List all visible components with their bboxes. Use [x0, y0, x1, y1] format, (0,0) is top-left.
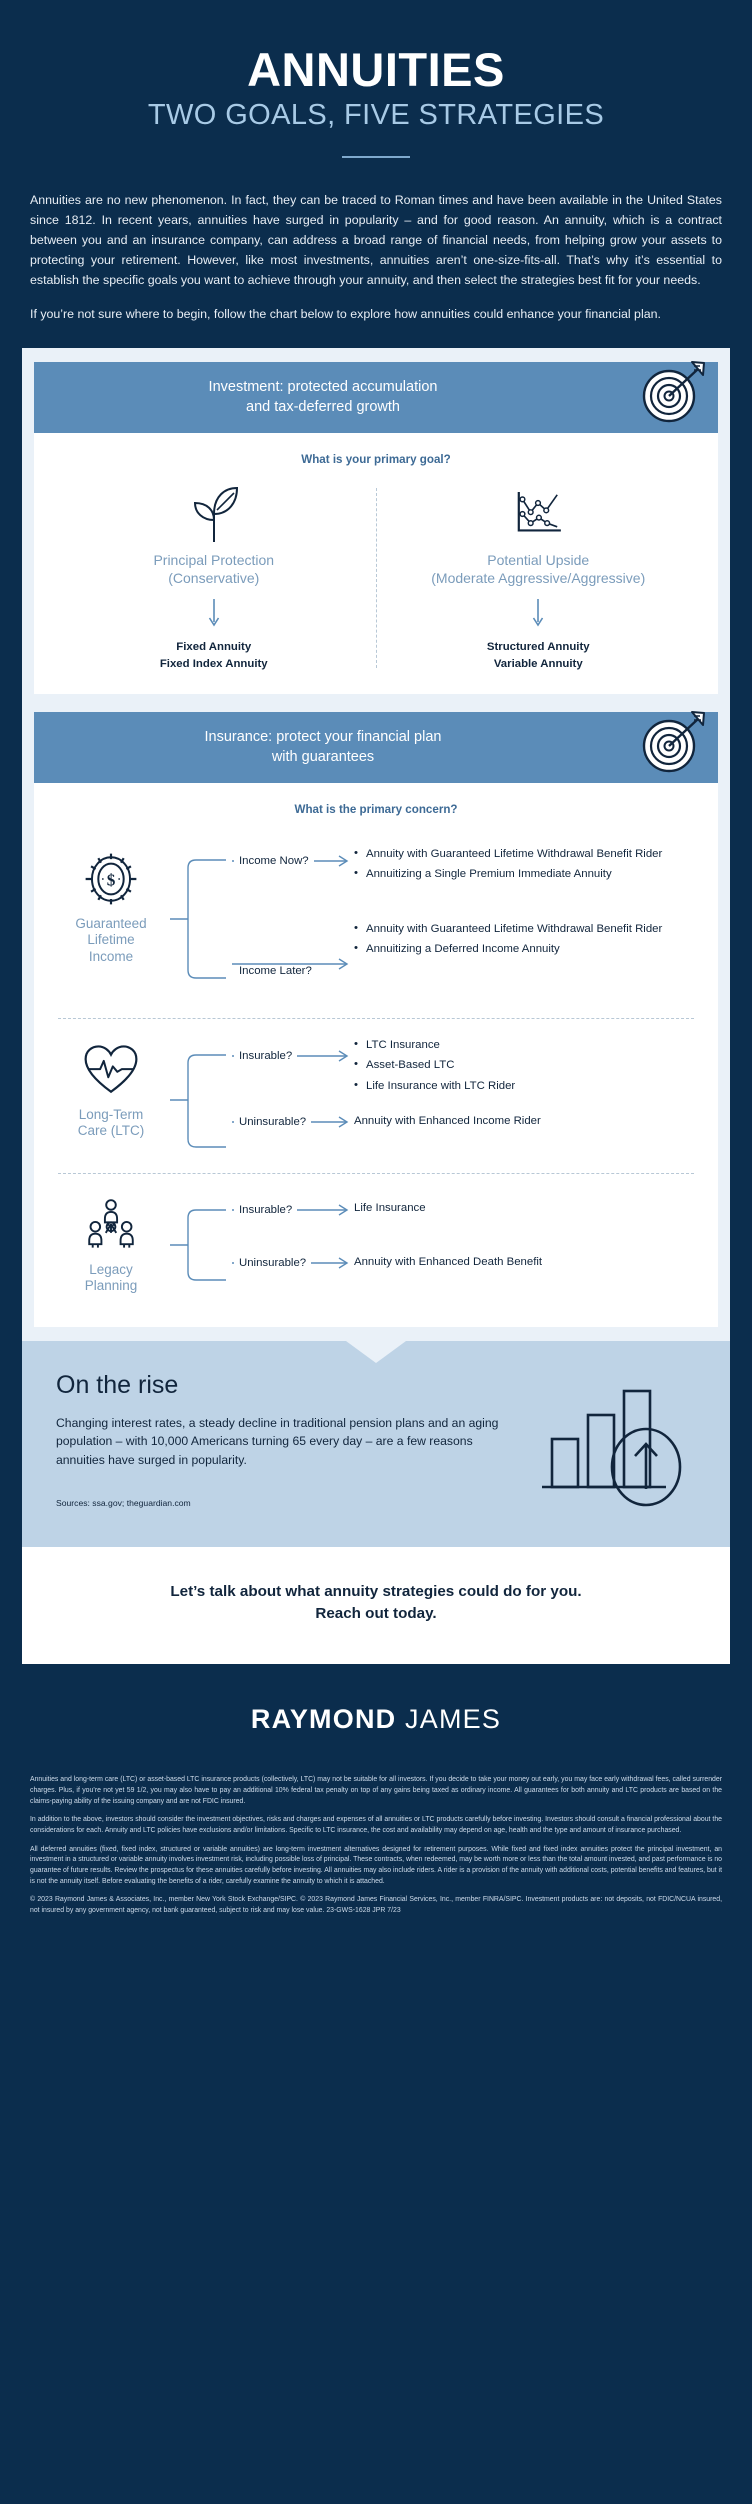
branch-row: Income Later? Annuity with Guaranteed Li…: [176, 919, 700, 994]
branch-label-block: Legacy Planning: [52, 1190, 170, 1294]
bar-chart-up-arrow-icon: [536, 1371, 696, 1517]
outcome-item: Annuitizing a Single Premium Immediate A…: [354, 866, 700, 882]
insurance-banner-line2: with guarantees: [272, 749, 374, 765]
branch-question-cell: Insurable?: [176, 1035, 354, 1077]
inv-title2-line2: (Moderate Aggressive/Aggressive): [431, 570, 645, 586]
branch-title-legacy-planning: Legacy Planning: [52, 1262, 170, 1294]
cta-line2: Reach out today.: [315, 1605, 436, 1622]
investment-panel: Investment: protected accumulation and t…: [34, 362, 718, 694]
arrow-down-icon: [208, 599, 220, 629]
investment-tree: Principal Protection (Conservative) Fixe…: [52, 484, 700, 672]
logo-bold: RAYMOND: [251, 1704, 396, 1734]
page-title: ANNUITIES: [30, 46, 722, 94]
branch3-line2: Planning: [85, 1278, 138, 1293]
inv-outcome-line1: Fixed Annuity: [176, 641, 251, 653]
disclaimer-paragraph-4: © 2023 Raymond James & Associates, Inc.,…: [30, 1895, 722, 1916]
insurance-banner-line1: Insurance: protect your financial plan: [205, 729, 442, 745]
branch3-line1: Legacy: [89, 1262, 133, 1277]
cta-text: Let’s talk about what annuity strategies…: [52, 1581, 700, 1627]
cta-section: Let’s talk about what annuity strategies…: [22, 1547, 730, 1665]
inv-title-line1: Principal Protection: [153, 552, 274, 568]
branch-question-cell: Uninsurable?: [176, 1246, 354, 1280]
insurance-banner-text: Insurance: protect your financial plan w…: [58, 728, 608, 767]
investment-branch-title-aggressive: Potential Upside (Moderate Aggressive/Ag…: [383, 552, 695, 587]
branch-outcomes: Annuity with Guaranteed Lifetime Withdra…: [354, 844, 700, 886]
branch-outcomes: Annuity with Enhanced Income Rider: [354, 1105, 700, 1129]
intro-paragraph-2: If you’re not sure where to begin, follo…: [30, 304, 722, 324]
branch-question-cell: Income Now?: [176, 844, 354, 878]
branch-outcomes: LTC Insurance Asset-Based LTC Life Insur…: [354, 1035, 700, 1098]
on-the-rise-heading: On the rise: [56, 1371, 520, 1400]
plant-leaf-icon: [58, 484, 370, 544]
investment-branch-title-conservative: Principal Protection (Conservative): [58, 552, 370, 587]
inv-outcome-line2: Fixed Index Annuity: [160, 658, 268, 670]
brand-logo: RAYMOND JAMES: [0, 1664, 752, 1769]
intro-paragraph-1: Annuities are no new phenomenon. In fact…: [30, 190, 722, 290]
branch-question-label: Income Later?: [234, 965, 317, 977]
branch-title-guaranteed-lifetime-income: Guaranteed Lifetime Income: [52, 916, 170, 965]
page-subtitle: TWO GOALS, FIVE STRATEGIES: [30, 100, 722, 132]
outcome-item: Annuitizing a Deferred Income Annuity: [354, 941, 700, 957]
branch-title-long-term-care: Long-Term Care (LTC): [52, 1107, 170, 1139]
branch-outcomes: Life Insurance: [354, 1190, 700, 1216]
branch1-line1: Guaranteed: [75, 916, 146, 931]
on-the-rise-text-block: On the rise Changing interest rates, a s…: [56, 1371, 536, 1509]
branch-row: Income Now? Annuity with Guaranteed Life…: [176, 844, 700, 919]
outcome-item: Annuity with Guaranteed Lifetime Withdra…: [354, 846, 700, 862]
logo-thin: JAMES: [405, 1704, 501, 1734]
insurance-branch-guaranteed-lifetime-income: $ Guaranteed Lifetime Income: [52, 834, 700, 1004]
svg-text:$: $: [107, 870, 116, 889]
outcome-item: Annuity with Guaranteed Lifetime Withdra…: [354, 921, 700, 937]
line-chart-icon: [383, 484, 695, 544]
outcome-item: Asset-Based LTC: [354, 1057, 700, 1073]
branch-question-cell: Insurable?: [176, 1190, 354, 1230]
inv-outcome2-line2: Variable Annuity: [494, 658, 583, 670]
notch-shape: [346, 1341, 406, 1363]
outcome-item: LTC Insurance: [354, 1037, 700, 1053]
chart-card: Investment: protected accumulation and t…: [22, 348, 730, 1340]
insurance-question: What is the primary concern?: [52, 803, 700, 816]
branch-question-cell: Uninsurable?: [176, 1105, 354, 1139]
branch1-line3: Income: [89, 949, 133, 964]
branch-question-label: Insurable?: [234, 1204, 297, 1216]
investment-branch-aggressive: Potential Upside (Moderate Aggressive/Ag…: [377, 484, 701, 672]
infographic-page: ANNUITIES TWO GOALS, FIVE STRATEGIES Ann…: [0, 0, 752, 2504]
insurance-branch-long-term-care: Long-Term Care (LTC): [52, 1025, 700, 1159]
branch-outcomes: Annuity with Enhanced Death Benefit: [354, 1246, 700, 1270]
family-group-icon: [52, 1194, 170, 1256]
branch-separator: [58, 1018, 694, 1019]
investment-question: What is your primary goal?: [52, 453, 700, 466]
branch-rows-legacy-planning: Insurable? Life Insurance: [170, 1190, 700, 1290]
investment-banner: Investment: protected accumulation and t…: [34, 362, 718, 433]
target-arrow-icon: [636, 704, 710, 778]
investment-banner-text: Investment: protected accumulation and t…: [58, 378, 608, 417]
on-the-rise-sources: Sources: ssa.gov; theguardian.com: [56, 1498, 520, 1508]
investment-outcome-conservative: Fixed Annuity Fixed Index Annuity: [58, 639, 370, 672]
investment-branch-conservative: Principal Protection (Conservative) Fixe…: [52, 484, 376, 672]
investment-banner-line2: and tax-deferred growth: [246, 399, 400, 415]
investment-outcome-aggressive: Structured Annuity Variable Annuity: [383, 639, 695, 672]
branch-outcomes: Annuity with Guaranteed Lifetime Withdra…: [354, 919, 700, 961]
gear-dollar-icon: $: [52, 848, 170, 910]
branch-question-label: Income Now?: [234, 855, 314, 867]
branch-row: Uninsurable? Annuity with Enhanced Incom…: [176, 1105, 700, 1149]
branch1-line2: Lifetime: [87, 932, 134, 947]
branch-row: Insurable? LTC Insurance Asset-Based LTC…: [176, 1035, 700, 1105]
branch-rows-long-term-care: Insurable? LTC Insurance Asset-Based LTC…: [170, 1035, 700, 1149]
branch-question-label: Uninsurable?: [234, 1257, 311, 1269]
branch-question-label: Insurable?: [234, 1050, 297, 1062]
branch-separator: [58, 1173, 694, 1174]
outcome-item: Life Insurance with LTC Rider: [354, 1078, 700, 1094]
branch-label-block: $ Guaranteed Lifetime Income: [52, 844, 170, 965]
investment-body: What is your primary goal? P: [34, 433, 718, 694]
branch-question-label: Uninsurable?: [234, 1116, 311, 1128]
logo-text: RAYMOND JAMES: [251, 1704, 501, 1735]
hero-section: ANNUITIES TWO GOALS, FIVE STRATEGIES: [0, 0, 752, 158]
inv-title-line2: (Conservative): [168, 570, 259, 586]
heart-pulse-icon: [52, 1039, 170, 1101]
disclaimer-paragraph-3: All deferred annuities (fixed, fixed ind…: [30, 1845, 722, 1888]
branch-label-block: Long-Term Care (LTC): [52, 1035, 170, 1139]
insurance-body: What is the primary concern?: [34, 783, 718, 1326]
branch-question-cell: Income Later?: [176, 919, 354, 981]
inv-title2-line1: Potential Upside: [487, 552, 589, 568]
on-the-rise-section: On the rise Changing interest rates, a s…: [22, 1341, 730, 1547]
outcome-text: Annuity with Enhanced Death Benefit: [354, 1254, 700, 1270]
cta-line1: Let’s talk about what annuity strategies…: [170, 1583, 581, 1600]
inv-outcome2-line1: Structured Annuity: [487, 641, 590, 653]
outcome-text: Life Insurance: [354, 1200, 700, 1216]
branch-row: Insurable? Life Insurance: [176, 1190, 700, 1246]
insurance-banner: Insurance: protect your financial plan w…: [34, 712, 718, 783]
branch-row: Uninsurable? Annuity with Enhanced Death…: [176, 1246, 700, 1290]
intro-section: Annuities are no new phenomenon. In fact…: [0, 158, 752, 325]
insurance-branch-legacy-planning: Legacy Planning: [52, 1180, 700, 1304]
branch2-line1: Long-Term: [79, 1107, 144, 1122]
panel-gap: [34, 694, 718, 712]
disclaimer-paragraph-2: In addition to the above, investors shou…: [30, 1815, 722, 1836]
outcome-text: Annuity with Enhanced Income Rider: [354, 1113, 700, 1129]
disclaimer-paragraph-1: Annuities and long-term care (LTC) or as…: [30, 1775, 722, 1807]
investment-banner-line1: Investment: protected accumulation: [209, 379, 438, 395]
disclaimer-section: Annuities and long-term care (LTC) or as…: [0, 1769, 752, 1957]
insurance-panel: Insurance: protect your financial plan w…: [34, 712, 718, 1326]
branch-rows-guaranteed-lifetime-income: Income Now? Annuity with Guaranteed Life…: [170, 844, 700, 994]
arrow-down-icon: [532, 599, 544, 629]
target-arrow-icon: [636, 354, 710, 428]
branch2-line2: Care (LTC): [78, 1123, 145, 1138]
on-the-rise-body: Changing interest rates, a steady declin…: [56, 1414, 520, 1471]
